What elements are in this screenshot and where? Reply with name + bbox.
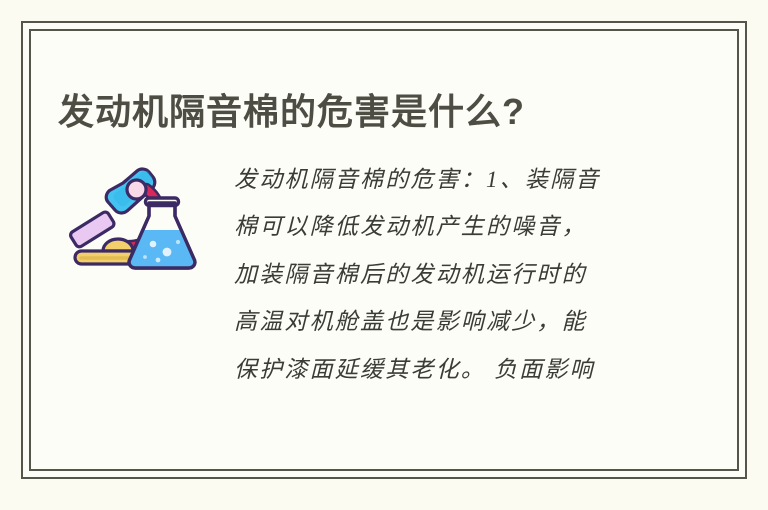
body-line: 加装隔音棉后的发动机运行时的 [234, 251, 684, 298]
body-line: 发动机隔音棉的危害：1、装隔音 [234, 156, 684, 203]
body-line: 棉可以降低发动机产生的噪音， [234, 203, 684, 250]
body-line: 高温对机舱盖也是影响减少，能 [234, 298, 684, 345]
article-body: 发动机隔音棉的危害：1、装隔音 棉可以降低发动机产生的噪音， 加装隔音棉后的发动… [234, 156, 684, 393]
page-title: 发动机隔音棉的危害是什么? [58, 91, 525, 133]
microscope-and-flask-icon [63, 159, 208, 279]
page-root: 发动机隔音棉的危害是什么? [0, 0, 768, 510]
body-line: 保护漆面延缓其老化。 负面影响 [234, 346, 684, 393]
article-content: 发动机隔音棉的危害是什么? [31, 31, 737, 469]
